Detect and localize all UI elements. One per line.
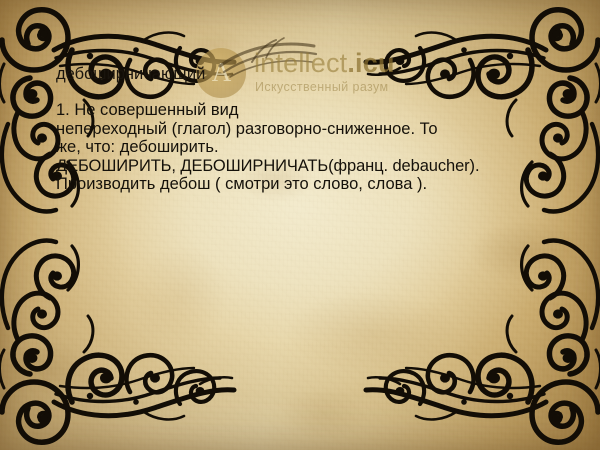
dictionary-card: A intellect.icu Искусственный разум дебо… [0,0,600,450]
entry-definition: 1. Не совершенный вид непереходный (глаг… [56,101,564,194]
definition-line: Производить дебош ( смотри это слово, сл… [56,175,564,194]
definition-line: 1. Не совершенный вид [56,101,564,120]
definition-line: ДЕБОШИРИТЬ, ДЕБОШИРНИЧАТЬ(франц. debauch… [56,157,564,176]
definition-line: непереходный (глагол) разговорно-сниженн… [56,120,564,139]
entry-headword: дебоширничающий [56,64,564,85]
entry-content: дебоширничающий 1. Не совершенный вид не… [56,64,564,194]
definition-line: же, что: дебоширить. [56,138,564,157]
